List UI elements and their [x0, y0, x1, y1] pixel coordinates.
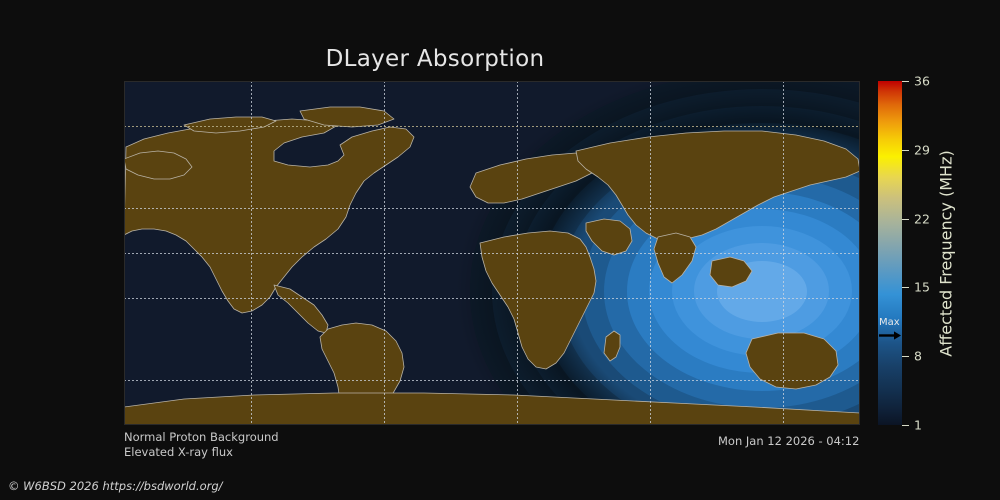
landmass-layer — [124, 81, 860, 425]
antarctica-path — [124, 393, 860, 425]
southeast-asia-path — [710, 257, 752, 287]
colorbar[interactable]: 1815222936 Max — [878, 81, 902, 425]
timestamp-label: Mon Jan 12 2026 - 04:12 — [718, 434, 859, 448]
colorbar-tick-label: 8 — [914, 349, 922, 364]
central-america-path — [274, 285, 328, 333]
colorbar-tick-label: 36 — [914, 74, 930, 89]
dlayer-absorption-map: DLayer Absorption — [0, 0, 1000, 500]
madagascar-path — [604, 331, 620, 361]
india-path — [654, 233, 696, 283]
africa-path — [480, 231, 596, 369]
colorbar-tick — [902, 219, 909, 220]
colorbar-gradient — [878, 81, 902, 425]
colorbar-tick-label: 22 — [914, 211, 930, 226]
colorbar-tick-label: 15 — [914, 280, 930, 295]
arabia-path — [586, 219, 632, 255]
colorbar-axis-label: Affected Frequency (MHz) — [934, 81, 958, 425]
colorbar-tick — [902, 150, 909, 151]
max-arrow-icon — [878, 331, 902, 340]
colorbar-tick — [902, 81, 909, 82]
max-marker-label: Max — [879, 318, 900, 328]
proton-status-text: Normal Proton Background — [124, 430, 279, 444]
colorbar-tick-label: 29 — [914, 142, 930, 157]
colorbar-tick — [902, 356, 909, 357]
australia-path — [746, 333, 838, 389]
world-map-panel[interactable] — [124, 81, 860, 425]
colorbar-tick — [902, 287, 909, 288]
colorbar-axis-label-text: Affected Frequency (MHz) — [937, 150, 956, 356]
colorbar-tick — [902, 425, 909, 426]
copyright-label: © W6BSD 2026 https://bsdworld.org/ — [8, 479, 223, 493]
north-america-path — [124, 119, 414, 313]
continents-svg — [124, 81, 860, 425]
colorbar-tick-label: 1 — [914, 418, 922, 433]
xray-status-text: Elevated X-ray flux — [124, 445, 233, 459]
page-title: DLayer Absorption — [0, 46, 870, 72]
